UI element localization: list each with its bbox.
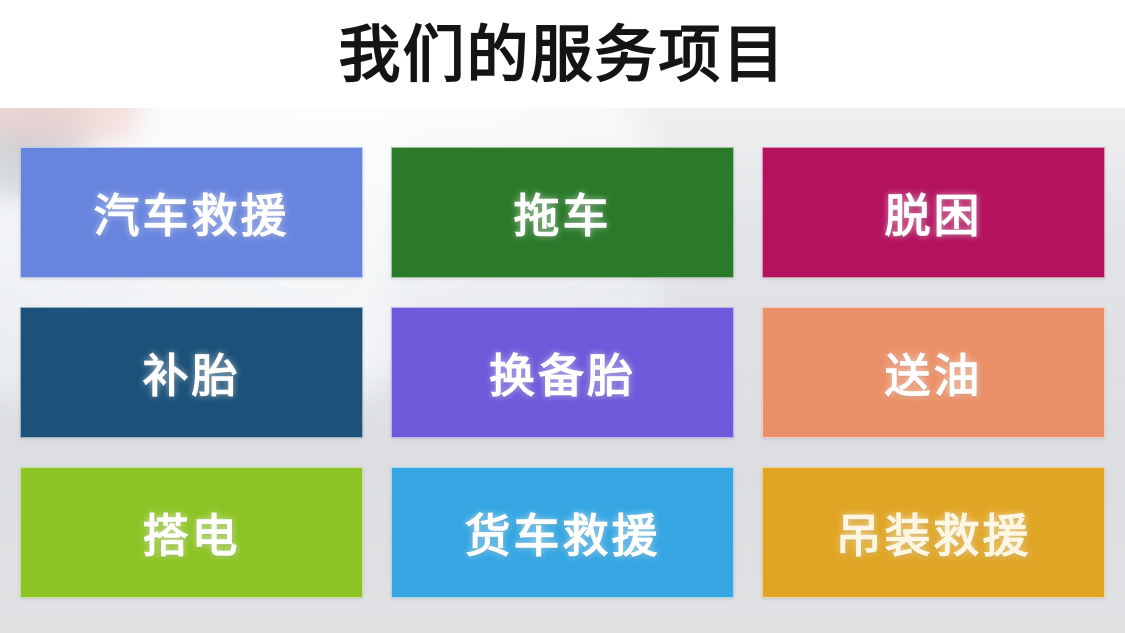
service-tile-extrication[interactable]: 脱困 [762, 147, 1105, 278]
service-tile-tire-repair[interactable]: 补胎 [20, 307, 363, 438]
service-tile-label: 脱困 [885, 180, 983, 246]
service-tile-label: 拖车 [514, 180, 612, 246]
service-tile-truck-rescue[interactable]: 货车救援 [391, 467, 734, 598]
service-tile-crane-rescue[interactable]: 吊装救援 [762, 467, 1105, 598]
service-tile-label: 送油 [885, 340, 983, 406]
service-tile-label: 汽车救援 [94, 180, 290, 246]
service-poster: 我们的服务项目 汽车救援 拖车 脱困 补胎 换备胎 送油 搭电 货车救援 吊装救… [0, 0, 1125, 633]
service-tile-fuel-delivery[interactable]: 送油 [762, 307, 1105, 438]
service-tile-label: 吊装救援 [836, 500, 1032, 566]
service-tile-jump-start[interactable]: 搭电 [20, 467, 363, 598]
service-tile-roadside-assistance[interactable]: 汽车救援 [20, 147, 363, 278]
service-tile-towing[interactable]: 拖车 [391, 147, 734, 278]
service-tile-label: 换备胎 [489, 340, 636, 406]
service-tile-spare-tire-change[interactable]: 换备胎 [391, 307, 734, 438]
service-tile-label: 补胎 [143, 340, 241, 406]
service-tile-label: 货车救援 [465, 500, 661, 566]
service-tile-label: 搭电 [143, 500, 241, 566]
page-title: 我们的服务项目 [0, 14, 1125, 98]
services-grid: 汽车救援 拖车 脱困 补胎 换备胎 送油 搭电 货车救援 吊装救援 [20, 147, 1105, 599]
